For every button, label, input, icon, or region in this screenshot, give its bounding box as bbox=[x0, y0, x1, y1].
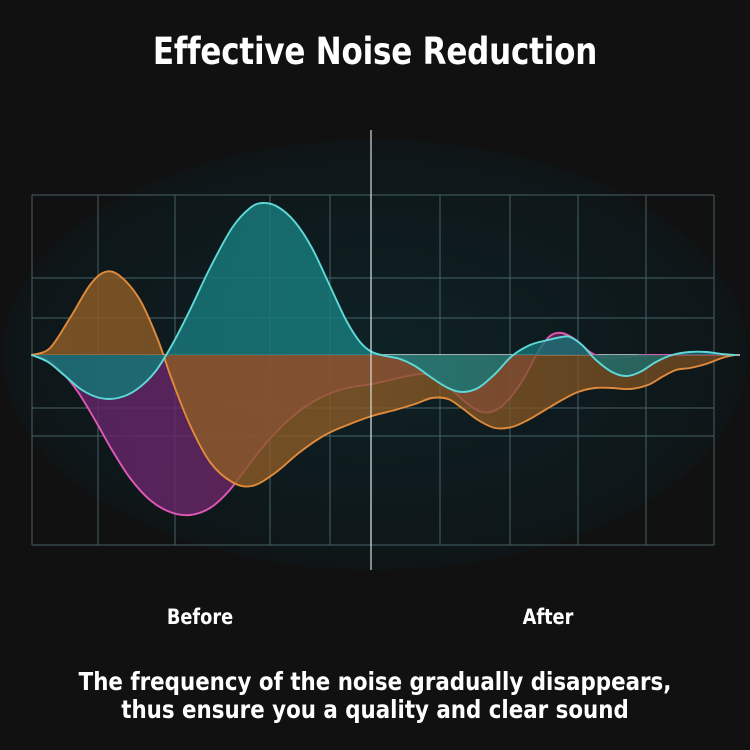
noise-reduction-infographic: Effective Noise Reduction bbox=[0, 0, 750, 750]
caption-block: The frequency of the noise gradually dis… bbox=[19, 668, 732, 724]
legend-row: Before After bbox=[0, 605, 750, 639]
chart-canvas bbox=[0, 130, 750, 570]
legend-label-before: Before bbox=[125, 605, 275, 629]
caption-line-2: thus ensure you a quality and clear soun… bbox=[19, 696, 732, 724]
page-title: Effective Noise Reduction bbox=[26, 30, 724, 73]
legend-label-after: After bbox=[473, 605, 623, 629]
caption-line-1: The frequency of the noise gradually dis… bbox=[19, 668, 732, 696]
waveform-chart bbox=[0, 130, 750, 570]
